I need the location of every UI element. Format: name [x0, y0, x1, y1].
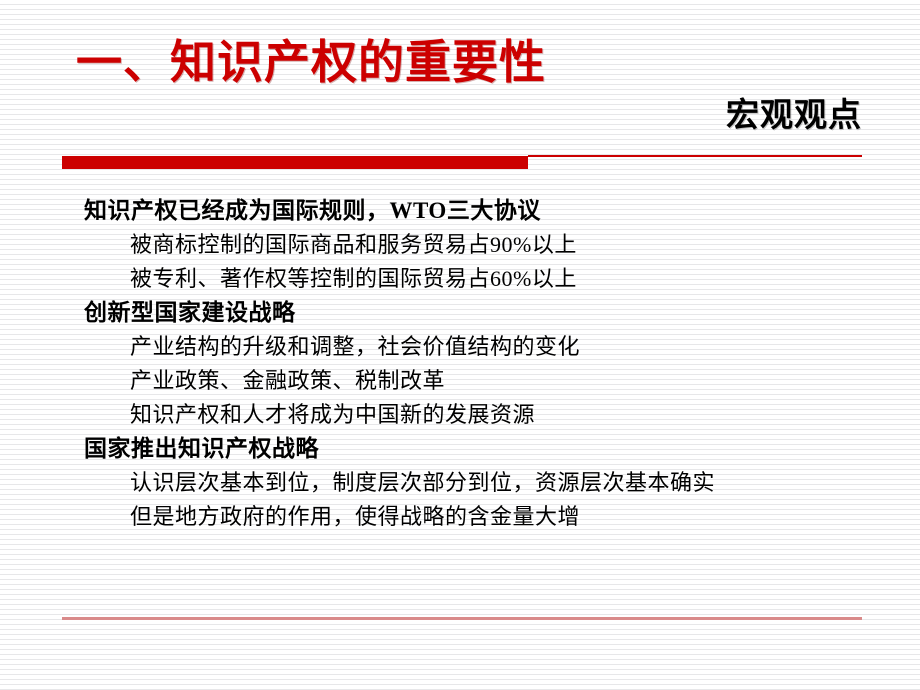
title-divider-thin-rule: [528, 155, 862, 157]
bullet-point: 知识产权和人才将成为中国新的发展资源: [130, 398, 920, 432]
bullet-point: 产业结构的升级和调整，社会价值结构的变化: [130, 330, 920, 364]
section-heading: 知识产权已经成为国际规则，WTO三大协议: [84, 194, 920, 228]
bullet-point: 但是地方政府的作用，使得战略的含金量大增: [130, 500, 920, 534]
slide-canvas: 一、知识产权的重要性 宏观观点 知识产权已经成为国际规则，WTO三大协议 被商标…: [0, 0, 920, 690]
footer-divider-rule: [62, 617, 862, 620]
bullet-point: 被商标控制的国际商品和服务贸易占90%以上: [130, 228, 920, 262]
slide-body: 知识产权已经成为国际规则，WTO三大协议 被商标控制的国际商品和服务贸易占90%…: [0, 194, 920, 534]
title-divider-thick-bar: [62, 156, 528, 169]
bullet-point: 认识层次基本到位，制度层次部分到位，资源层次基本确实: [130, 466, 920, 500]
bullet-point: 产业政策、金融政策、税制改革: [130, 364, 920, 398]
page-title: 一、知识产权的重要性: [76, 36, 546, 89]
page-subtitle: 宏观观点: [726, 96, 862, 134]
section-heading: 创新型国家建设战略: [84, 296, 920, 330]
section-heading: 国家推出知识产权战略: [84, 432, 920, 466]
bullet-point: 被专利、著作权等控制的国际贸易占60%以上: [130, 262, 920, 296]
